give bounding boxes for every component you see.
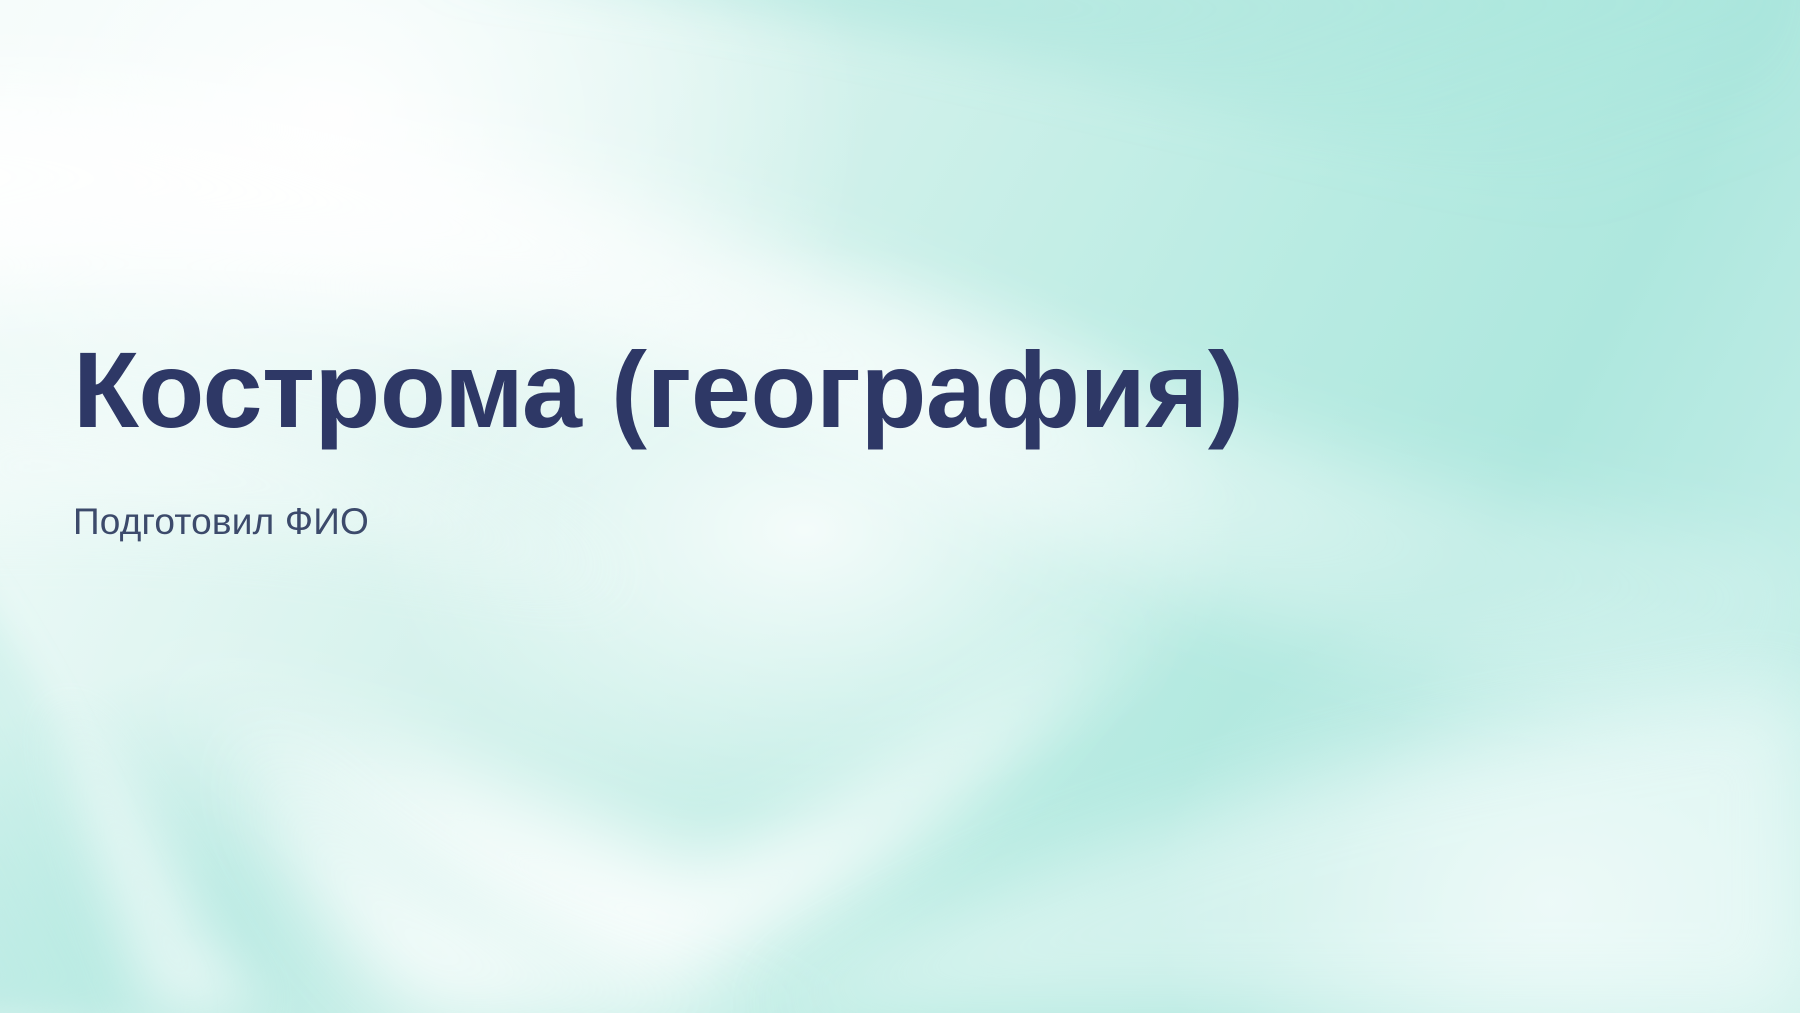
left-edge-teal-streak	[0, 560, 190, 1013]
lower-center-white-swoosh	[130, 600, 1135, 995]
slide-subtitle: Подготовил ФИО	[73, 451, 1633, 545]
slide-title: Кострома (география)	[73, 330, 1633, 451]
bottom-left-teal-bloom	[0, 553, 640, 1013]
upper-left-highlight-ridge	[60, 700, 260, 1013]
presentation-slide: Кострома (география) Подготовил ФИО	[0, 0, 1800, 1013]
slide-text-block: Кострома (география) Подготовил ФИО	[73, 330, 1633, 545]
right-side-soft-sweep	[760, 690, 1800, 1013]
top-teal-band	[420, 0, 1800, 250]
bottom-white-crescent	[250, 742, 900, 1013]
